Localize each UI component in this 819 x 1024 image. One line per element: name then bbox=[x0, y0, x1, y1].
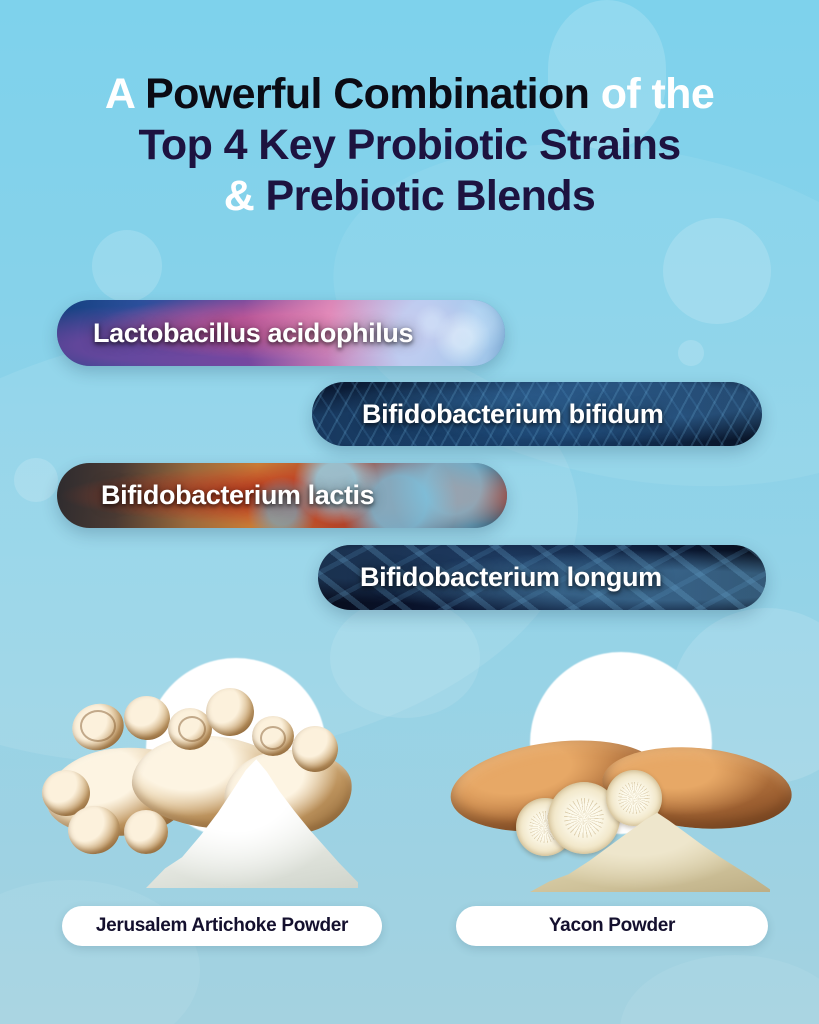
prebiotic-jerusalem-artichoke bbox=[28, 630, 400, 950]
background-bubble-3 bbox=[92, 230, 162, 302]
strain-pill-bifidobacterium-lactis[interactable]: Bifidobacterium lactis bbox=[57, 463, 507, 528]
strain-label: Bifidobacterium longum bbox=[360, 562, 662, 593]
background-bubble-5 bbox=[678, 340, 704, 366]
headline-segment-a: A bbox=[105, 70, 145, 118]
headline-line-1: A Powerful Combination of the bbox=[0, 70, 819, 119]
probiotic-prebiotic-infographic: A Powerful Combination of the Top 4 Key … bbox=[0, 0, 819, 1024]
headline-segment-ampersand: & bbox=[224, 172, 266, 220]
strain-pill-bifidobacterium-longum[interactable]: Bifidobacterium longum bbox=[318, 545, 766, 610]
background-bubble-4 bbox=[14, 458, 58, 502]
headline-segment-prebiotic-blends: Prebiotic Blends bbox=[266, 172, 596, 220]
background-bubble-9 bbox=[620, 955, 819, 1024]
headline-segment-powerful-combination: Powerful Combination bbox=[145, 70, 589, 118]
jerusalem-artichoke-image bbox=[28, 630, 400, 892]
chip-text: Yacon Powder bbox=[549, 915, 675, 937]
headline-line-3: & Prebiotic Blends bbox=[0, 172, 819, 221]
background-bubble-2 bbox=[663, 218, 771, 324]
prebiotic-label-jerusalem-artichoke[interactable]: Jerusalem Artichoke Powder bbox=[62, 906, 382, 946]
prebiotic-label-yacon[interactable]: Yacon Powder bbox=[456, 906, 768, 946]
page-title: A Powerful Combination of the Top 4 Key … bbox=[0, 70, 819, 221]
strain-label: Lactobacillus acidophilus bbox=[93, 318, 413, 349]
headline-segment-of-the: of the bbox=[589, 70, 714, 118]
headline-line-2: Top 4 Key Probiotic Strains bbox=[0, 121, 819, 170]
chip-text: Jerusalem Artichoke Powder bbox=[96, 915, 348, 937]
prebiotic-yacon bbox=[430, 630, 802, 950]
strain-label: Bifidobacterium bifidum bbox=[362, 399, 663, 430]
strain-pill-bifidobacterium-bifidum[interactable]: Bifidobacterium bifidum bbox=[312, 382, 762, 446]
yacon-image bbox=[430, 630, 802, 892]
strain-pill-lactobacillus-acidophilus[interactable]: Lactobacillus acidophilus bbox=[57, 300, 505, 366]
strain-label: Bifidobacterium lactis bbox=[101, 480, 374, 511]
